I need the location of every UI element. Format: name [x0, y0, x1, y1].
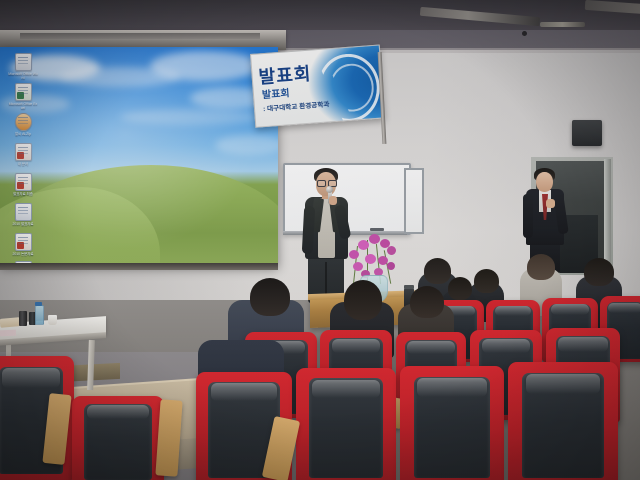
- utility-icon: [15, 113, 32, 131]
- banner-subtitle: 발표회: [261, 84, 290, 101]
- ceiling-sensor: [522, 31, 527, 36]
- paper-cup: [48, 315, 57, 325]
- document-icon: [15, 173, 32, 191]
- presenter-hand: [329, 196, 337, 205]
- water-bottle: [35, 305, 44, 325]
- auditorium-seat[interactable]: [508, 362, 618, 480]
- audience-member-head: [474, 269, 499, 293]
- seat-highlight: [2, 368, 60, 388]
- desktop-icon[interactable]: Microsoft Office Excel: [8, 83, 38, 110]
- door-edge: [604, 159, 611, 275]
- seat-highlight: [312, 380, 380, 399]
- seat-highlight: [558, 337, 608, 352]
- folder-icon: [15, 143, 32, 161]
- document-icon: [15, 233, 32, 251]
- screen-roller: [20, 33, 260, 39]
- desktop-icon[interactable]: 2010 발표자료: [8, 203, 38, 226]
- microphone-head: [326, 186, 333, 193]
- seat-highlight: [551, 304, 589, 314]
- marker: [370, 228, 384, 231]
- spreadsheet-icon: [15, 83, 32, 101]
- glasses-icon: [317, 180, 326, 187]
- staff-arm: [523, 194, 533, 238]
- lecture-hall-photo: Microsoft Office Word Microsoft Office E…: [0, 0, 640, 480]
- seat-highlight: [608, 303, 640, 314]
- desktop-icon[interactable]: 발표자료 최종: [8, 173, 38, 196]
- audience-member-head: [424, 258, 451, 284]
- audience-member-head: [584, 258, 614, 286]
- audience-member-head: [344, 280, 382, 320]
- desktop-icon[interactable]: 2010 논문자료: [8, 233, 38, 256]
- ceiling-light-fixture: [540, 22, 585, 27]
- staff-head: [536, 172, 553, 192]
- cloud: [120, 109, 260, 125]
- beverage-can: [19, 311, 27, 326]
- bottle-cap: [35, 302, 42, 306]
- seat-highlight: [407, 341, 455, 355]
- seat-highlight: [495, 306, 532, 316]
- cloud: [215, 135, 278, 155]
- paper: [0, 330, 16, 337]
- audience-member-head: [250, 278, 290, 316]
- auditorium-seat[interactable]: [400, 366, 504, 480]
- event-banner: 발표회 발표회 : 대구대학교 환경공학과: [250, 44, 385, 127]
- seat-highlight: [211, 383, 276, 401]
- seat-highlight: [526, 374, 601, 394]
- cloud: [150, 51, 260, 81]
- seat-highlight: [87, 405, 150, 419]
- audience-member-head: [527, 254, 555, 280]
- desktop-icon[interactable]: Microsoft Office Word: [8, 53, 38, 80]
- screen-bottom-rail: [0, 263, 278, 270]
- auditorium-seat[interactable]: [72, 396, 164, 480]
- audience-member-head: [448, 277, 472, 300]
- thermos-cap: [404, 285, 414, 289]
- desktop-icon[interactable]: 내 문서: [8, 143, 38, 166]
- seat-highlight: [482, 339, 531, 353]
- seat-highlight: [332, 339, 381, 353]
- projection-screen: Microsoft Office Word Microsoft Office E…: [0, 47, 278, 265]
- audience-member-head: [410, 286, 444, 318]
- seat-highlight: [417, 378, 488, 397]
- staff-hand: [546, 199, 555, 208]
- document-icon: [15, 203, 32, 221]
- napkin: [0, 317, 20, 328]
- side-whiteboard: [404, 168, 424, 234]
- desktop-icon[interactable]: 알씨 ALZip: [8, 113, 38, 136]
- document-icon: [15, 53, 32, 71]
- auditorium-seat[interactable]: [296, 368, 396, 480]
- wall-speaker: [572, 120, 602, 146]
